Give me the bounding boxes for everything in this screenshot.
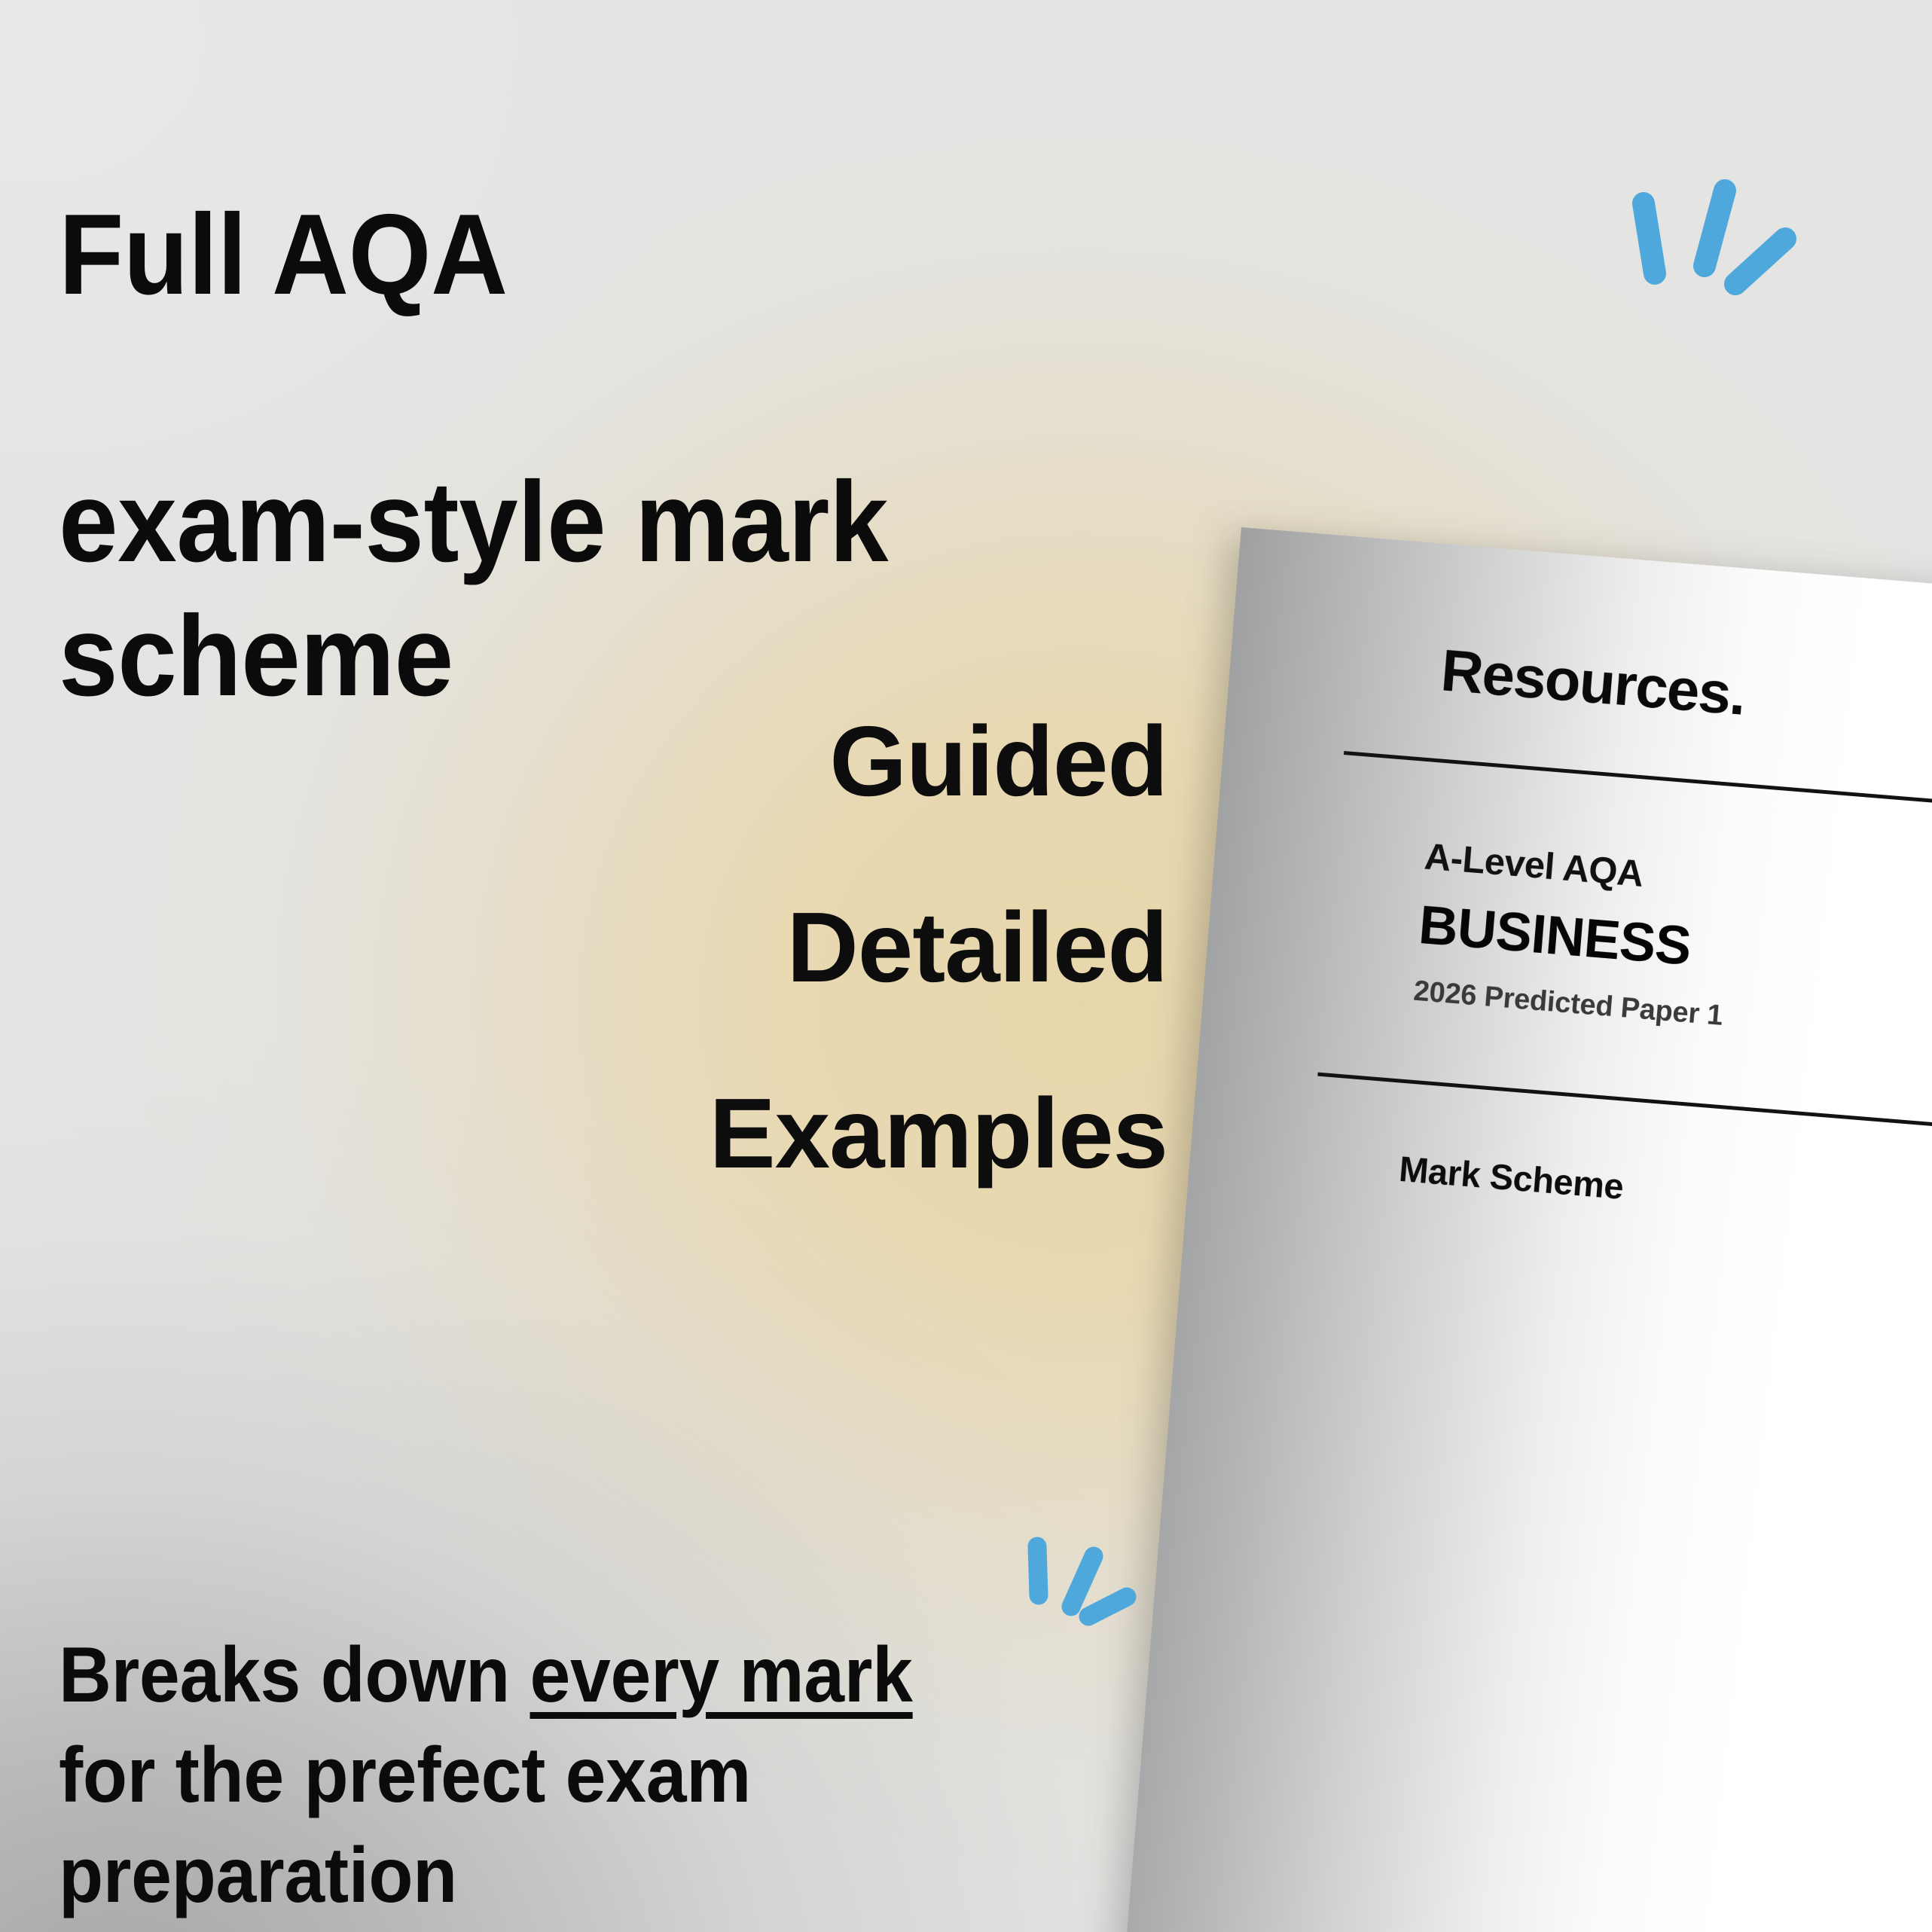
caption-emphasis-every-mark: every mark [530,1631,913,1719]
sparkle-icon-top [1619,169,1853,343]
feature-item-examples: Examples [452,1084,1167,1183]
feature-item-detailed: Detailed [452,898,1167,997]
headline-line-1: Full AQA [59,188,1082,322]
headline-line-2: exam-style mark scheme [59,456,1082,724]
document-page-surface: Resources. A-Level AQA BUSINESS 2026 Pre… [1119,527,1932,1932]
feature-list: Guided Detailed Examples [452,712,1167,1183]
caption-line-1-prefix: Breaks down [59,1631,530,1719]
document-sheet: Resources. A-Level AQA BUSINESS 2026 Pre… [1119,527,1932,1932]
caption: Breaks down every mark for the prefect e… [59,1625,1088,1926]
document-brand-title: Resources. [1341,628,1932,764]
document-content: Resources. A-Level AQA BUSINESS 2026 Pre… [1232,536,1932,1932]
sparkle-icon-bottom [1017,1528,1213,1671]
caption-line-1: Breaks down every mark [59,1625,1088,1726]
feature-item-guided: Guided [452,712,1167,811]
caption-line-2: for the prefect exam [59,1726,1088,1826]
caption-line-3: preparation [59,1826,1088,1926]
promo-graphic: Resources. A-Level AQA BUSINESS 2026 Pre… [0,0,1932,1932]
